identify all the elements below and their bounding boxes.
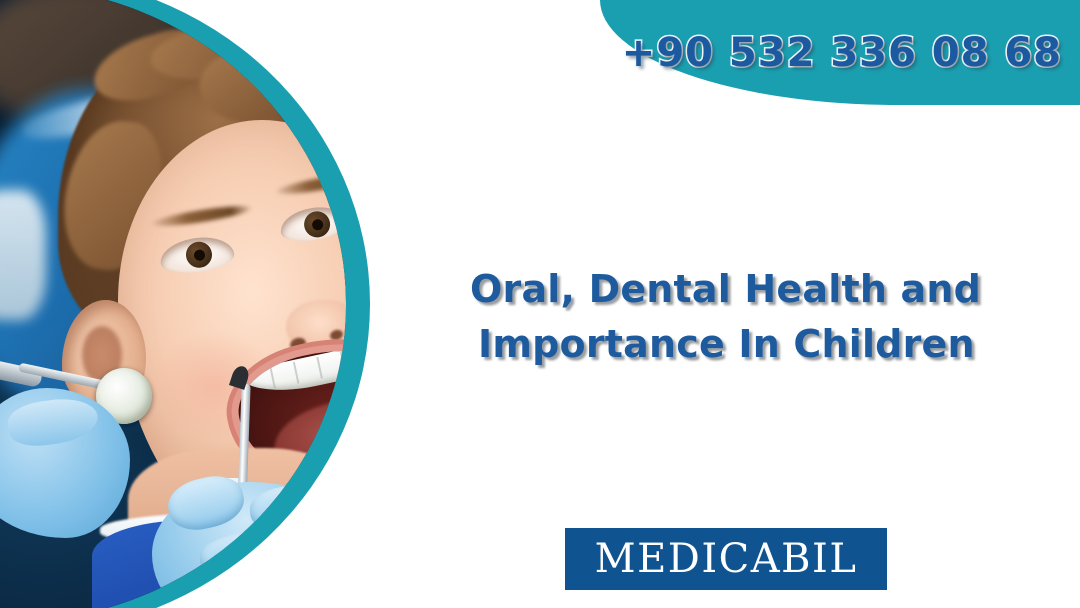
patient-photo bbox=[0, 0, 420, 608]
pupil bbox=[311, 218, 324, 231]
medicabil-logo[interactable]: MEDICABIL bbox=[565, 528, 887, 590]
logo-text: MEDICABIL bbox=[595, 536, 858, 582]
iris bbox=[302, 209, 332, 239]
page-title-line-2: Importance In Children bbox=[478, 317, 1030, 372]
iris bbox=[184, 240, 213, 269]
tooth-separator bbox=[340, 352, 346, 374]
tooth-separator bbox=[269, 367, 276, 389]
page-title-line-1: Oral, Dental Health and bbox=[470, 262, 1030, 317]
tooth-separator bbox=[293, 362, 300, 384]
phone-banner: +90 532 336 08 68 bbox=[600, 0, 1080, 105]
background-white-strip bbox=[0, 190, 46, 320]
photo-content bbox=[0, 0, 346, 608]
photo-clip-mask bbox=[0, 0, 346, 608]
phone-number[interactable]: +90 532 336 08 68 bbox=[622, 30, 1062, 76]
promo-banner: +90 532 336 08 68 Oral, Dental Health an… bbox=[0, 0, 1080, 608]
tooth-separator bbox=[316, 357, 323, 379]
page-title: Oral, Dental Health and Importance In Ch… bbox=[470, 262, 1030, 372]
pupil bbox=[193, 249, 205, 261]
